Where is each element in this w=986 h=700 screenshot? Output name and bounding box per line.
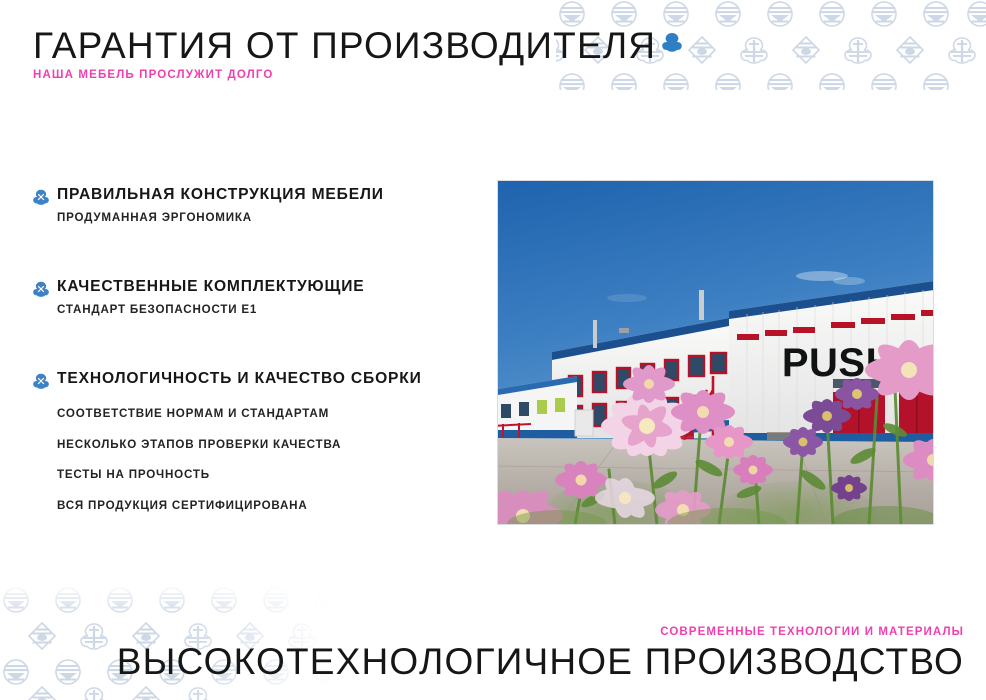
clover-bullet-icon	[33, 281, 49, 297]
clover-bullet-icon	[33, 189, 49, 205]
sub-list-item: НЕСКОЛЬКО ЭТАПОВ ПРОВЕРКИ КАЧЕСТВА	[57, 439, 503, 451]
slide-footer: СОВРЕМЕННЫЕ ТЕХНОЛОГИИ И МАТЕРИАЛЫ ВЫСОК…	[117, 626, 964, 682]
bullet-title: ТЕХНОЛОГИЧНОСТЬ И КАЧЕСТВО СБОРКИ	[57, 370, 422, 388]
bullet-group-1: ПРАВИЛЬНАЯ КОНСТРУКЦИЯ МЕБЕЛИ ПРОДУМАННА…	[33, 186, 503, 224]
sub-list-item: СООТВЕТСТВИЕ НОРМАМ И СТАНДАРТАМ	[57, 408, 503, 420]
sub-list-item: ВСЯ ПРОДУКЦИЯ СЕРТИФИЦИРОВАНА	[57, 500, 503, 512]
slide-header: ГАРАНТИЯ ОТ ПРОИЗВОДИТЕЛЯ НАША МЕБЕЛЬ ПР…	[33, 26, 656, 81]
bullet-sub-list: СООТВЕТСТВИЕ НОРМАМ И СТАНДАРТАМ НЕСКОЛЬ…	[57, 408, 503, 511]
bullet-title: КАЧЕСТВЕННЫЕ КОМПЛЕКТУЮЩИЕ	[57, 278, 365, 296]
footer-eyebrow: СОВРЕМЕННЫЕ ТЕХНОЛОГИИ И МАТЕРИАЛЫ	[117, 626, 964, 638]
bullet-title: ПРАВИЛЬНАЯ КОНСТРУКЦИЯ МЕБЕЛИ	[57, 186, 384, 204]
slide-canvas: ГАРАНТИЯ ОТ ПРОИЗВОДИТЕЛЯ НАША МЕБЕЛЬ ПР…	[0, 0, 986, 700]
sub-list-item: ТЕСТЫ НА ПРОЧНОСТЬ	[57, 469, 503, 481]
factory-photo: PUSHE	[497, 180, 934, 525]
bullet-subtitle: СТАНДАРТ БЕЗОПАСНОСТИ Е1	[57, 303, 503, 316]
clover-bullet-icon	[33, 373, 49, 389]
bullet-subtitle: ПРОДУМАННАЯ ЭРГОНОМИКА	[57, 211, 503, 224]
bullet-head: ТЕХНОЛОГИЧНОСТЬ И КАЧЕСТВО СБОРКИ	[33, 370, 503, 389]
page-subtitle: НАША МЕБЕЛЬ ПРОСЛУЖИТ ДОЛГО	[33, 69, 656, 81]
feature-bullet-list: ПРАВИЛЬНАЯ КОНСТРУКЦИЯ МЕБЕЛИ ПРОДУМАННА…	[33, 186, 503, 511]
footer-title: ВЫСОКОТЕХНОЛОГИЧНОЕ ПРОИЗВОДСТВО	[117, 643, 964, 682]
bullet-group-3: ТЕХНОЛОГИЧНОСТЬ И КАЧЕСТВО СБОРКИ СООТВЕ…	[33, 370, 503, 511]
bullet-group-2: КАЧЕСТВЕННЫЕ КОМПЛЕКТУЮЩИЕ СТАНДАРТ БЕЗО…	[33, 278, 503, 316]
bullet-head: ПРАВИЛЬНАЯ КОНСТРУКЦИЯ МЕБЕЛИ	[33, 186, 503, 205]
page-title: ГАРАНТИЯ ОТ ПРОИЗВОДИТЕЛЯ	[33, 26, 656, 66]
accent-clover-motif	[662, 33, 682, 52]
bullet-head: КАЧЕСТВЕННЫЕ КОМПЛЕКТУЮЩИЕ	[33, 278, 503, 297]
